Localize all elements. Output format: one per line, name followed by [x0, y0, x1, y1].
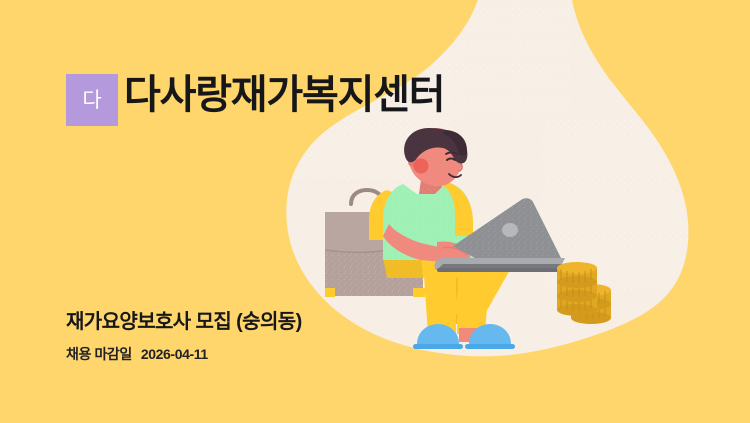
organization-name: 다사랑재가복지센터	[124, 70, 444, 121]
job-title: 재가요양보호사 모집 (숭의동)	[66, 305, 302, 334]
deadline-value: 2026-04-11	[141, 346, 208, 362]
deadline-row: 채용 마감일 2026-04-11	[66, 344, 208, 364]
deadline-label: 채용 마감일	[66, 344, 132, 364]
person-working-illustration	[325, 128, 625, 358]
center-logo-badge: 다	[66, 74, 118, 126]
coin-stack-left	[557, 262, 597, 316]
center-logo-badge-char: 다	[82, 90, 101, 111]
job-posting-banner: 다 다사랑재가복지센터	[0, 0, 750, 423]
